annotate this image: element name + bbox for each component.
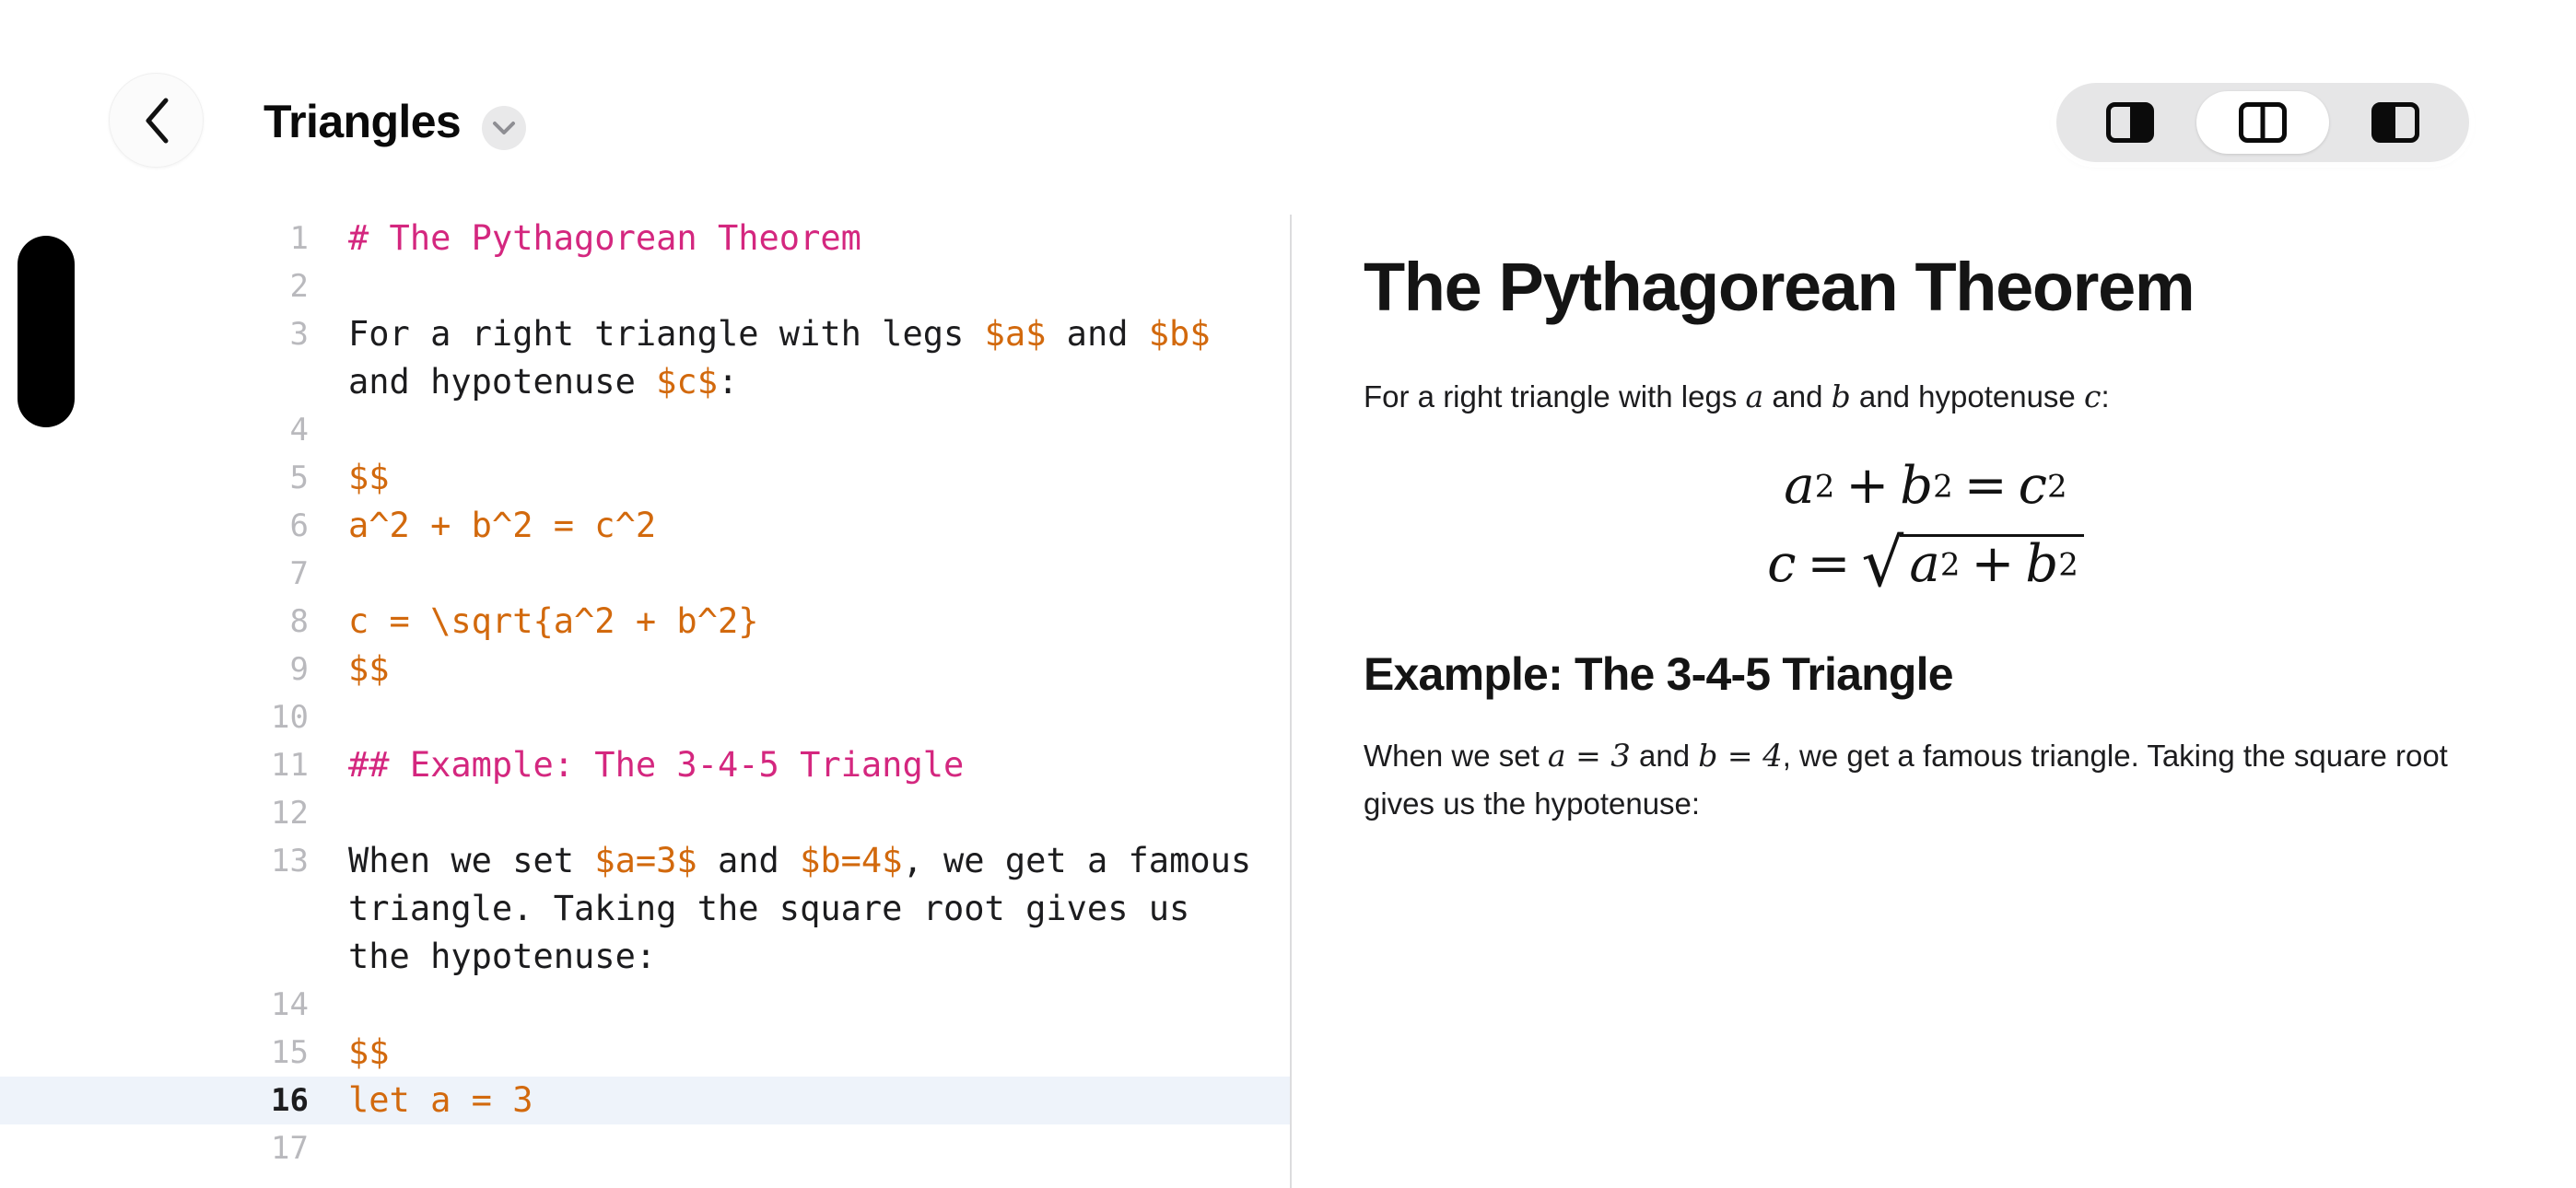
- line-number: 1: [0, 215, 309, 262]
- line-number: 7: [0, 550, 309, 598]
- title-dropdown-button[interactable]: [482, 106, 526, 150]
- md-text-token: When we set: [348, 841, 594, 880]
- line-number: 14: [0, 981, 309, 1029]
- line-source[interactable]: a^2 + b^2 = c^2: [309, 502, 1290, 550]
- line-source[interactable]: $$: [309, 646, 1290, 693]
- code-line[interactable]: 12: [0, 789, 1290, 837]
- line-source[interactable]: # The Pythagorean Theorem: [309, 215, 1290, 262]
- code-line[interactable]: 4: [0, 406, 1290, 454]
- code-line[interactable]: 1# The Pythagorean Theorem: [0, 215, 1290, 262]
- line-source[interactable]: $$: [309, 454, 1290, 502]
- preview-p2-num-1: 3: [1610, 738, 1631, 775]
- eq1-var-a: a: [1784, 456, 1814, 516]
- line-number: 2: [0, 262, 309, 310]
- md-math-token: $b=4$: [800, 841, 902, 880]
- app-root: Triangles: [0, 0, 2576, 1188]
- chevron-left-icon: [141, 97, 172, 145]
- radical-sign-icon: √: [1861, 530, 1903, 596]
- preview-p1-var-a: a: [1746, 379, 1764, 414]
- code-line[interactable]: 11## Example: The 3-4-5 Triangle: [0, 741, 1290, 789]
- preview-p1-var-b: b: [1832, 379, 1851, 414]
- markdown-preview: The Pythagorean Theorem For a right tria…: [1292, 215, 2576, 1188]
- preview-heading-1: The Pythagorean Theorem: [1364, 250, 2488, 325]
- preview-p2-text-a: When we set: [1364, 739, 1548, 773]
- code-line[interactable]: 2: [0, 262, 1290, 310]
- preview-p2-num-2: 4: [1762, 738, 1783, 775]
- md-math-token: $c$: [656, 362, 718, 402]
- chevron-down-icon: [492, 121, 516, 135]
- top-bar: Triangles: [0, 0, 2576, 215]
- panel-right-icon: [2371, 102, 2419, 143]
- line-source[interactable]: $$: [309, 1029, 1290, 1077]
- view-mode-split[interactable]: [2196, 91, 2329, 154]
- panel-split-icon: [2239, 102, 2287, 143]
- eq1-equals: =: [1953, 456, 2019, 516]
- code-line[interactable]: 10: [0, 693, 1290, 741]
- eq1-plus: +: [1834, 456, 1900, 516]
- md-math-token: c = \sqrt{a^2 + b^2}: [348, 601, 759, 641]
- line-source[interactable]: let a = 3: [309, 1077, 1290, 1124]
- preview-equation-1: a2+b2=c2: [1364, 460, 2488, 514]
- line-number: 13: [0, 837, 309, 885]
- line-number: 4: [0, 406, 309, 454]
- line-number: 3: [0, 310, 309, 358]
- line-number: 17: [0, 1124, 309, 1172]
- eq2-radicand: a2+b2: [1903, 538, 2083, 592]
- code-line[interactable]: 16let a = 3: [0, 1077, 1290, 1124]
- preview-p2-rel-1: =: [1566, 738, 1611, 774]
- preview-p1-text-b: and: [1763, 379, 1831, 413]
- line-number: 8: [0, 598, 309, 646]
- eq1-exp-3: 2: [2047, 469, 2067, 506]
- preview-paragraph-1: For a right triangle with legs a and b a…: [1364, 373, 2488, 421]
- preview-p2-var-a: a: [1548, 738, 1566, 774]
- eq2-equals: =: [1797, 534, 1862, 594]
- line-number: 11: [0, 741, 309, 789]
- md-math-token: let a = 3: [348, 1080, 533, 1120]
- md-text-token: For a right triangle with legs: [348, 314, 985, 354]
- md-math-token: $$: [348, 649, 390, 689]
- eq1-var-b: b: [1900, 456, 1933, 516]
- md-math-token: $a$: [985, 314, 1047, 354]
- code-line[interactable]: 8c = \sqrt{a^2 + b^2}: [0, 598, 1290, 646]
- code-line[interactable]: 3For a right triangle with legs $a$ and …: [0, 310, 1290, 406]
- eq2-exp-1: 2: [1940, 546, 1961, 583]
- eq1-exp-1: 2: [1815, 469, 1835, 506]
- md-heading-token: # The Pythagorean Theorem: [348, 218, 861, 258]
- eq1-var-c: c: [2019, 456, 2047, 516]
- line-number: 5: [0, 454, 309, 502]
- code-line[interactable]: 14: [0, 981, 1290, 1029]
- panes-container: 1# The Pythagorean Theorem23For a right …: [0, 215, 2576, 1188]
- md-math-token: $$: [348, 1032, 390, 1072]
- md-text-token: and: [1046, 314, 1148, 354]
- view-mode-switcher[interactable]: [2056, 83, 2469, 162]
- radical-vinculum: [1900, 534, 2083, 537]
- md-text-token: and: [697, 841, 800, 880]
- markdown-editor[interactable]: 1# The Pythagorean Theorem23For a right …: [0, 215, 1290, 1188]
- line-number: 12: [0, 789, 309, 837]
- code-line[interactable]: 6a^2 + b^2 = c^2: [0, 502, 1290, 550]
- view-mode-preview-only[interactable]: [2329, 91, 2462, 154]
- code-line[interactable]: 17: [0, 1124, 1290, 1172]
- md-math-token: $b$: [1149, 314, 1211, 354]
- preview-p2-rel-2: =: [1717, 738, 1762, 774]
- line-number: 9: [0, 646, 309, 693]
- code-line[interactable]: 5$$: [0, 454, 1290, 502]
- preview-p1-text-a: For a right triangle with legs: [1364, 379, 1746, 413]
- preview-p2-var-b: b: [1698, 738, 1717, 774]
- line-source[interactable]: c = \sqrt{a^2 + b^2}: [309, 598, 1290, 646]
- md-math-token: $$: [348, 458, 390, 497]
- code-line[interactable]: 9$$: [0, 646, 1290, 693]
- line-number: 6: [0, 502, 309, 550]
- preview-equation-2: c=√a2+b2: [1364, 538, 2488, 592]
- code-line[interactable]: 7: [0, 550, 1290, 598]
- md-math-token: a^2 + b^2 = c^2: [348, 506, 656, 545]
- eq2-var-b: b: [2025, 534, 2058, 594]
- eq2-var-c: c: [1767, 534, 1796, 594]
- view-mode-editor-only[interactable]: [2064, 91, 2196, 154]
- code-line[interactable]: 15$$: [0, 1029, 1290, 1077]
- eq2-var-a: a: [1909, 534, 1939, 594]
- preview-p2-text-b: and: [1631, 739, 1698, 773]
- preview-heading-2: Example: The 3-4-5 Triangle: [1364, 647, 2488, 701]
- preview-p1-var-c: c: [2084, 379, 2101, 414]
- back-button[interactable]: [109, 73, 204, 168]
- line-number: 16: [0, 1077, 309, 1124]
- line-source[interactable]: For a right triangle with legs $a$ and $…: [309, 310, 1290, 406]
- line-number: 10: [0, 693, 309, 741]
- page-title: Triangles: [263, 96, 461, 147]
- preview-p1-text-c: and hypotenuse: [1851, 379, 2084, 413]
- eq2-plus: +: [1960, 534, 2025, 594]
- panel-left-icon: [2106, 102, 2154, 143]
- preview-paragraph-2: When we set a = 3 and b = 4, we get a fa…: [1364, 732, 2488, 828]
- line-number: 15: [0, 1029, 309, 1077]
- line-source[interactable]: When we set $a=3$ and $b=4$, we get a fa…: [309, 837, 1290, 981]
- md-heading-token: ## Example: The 3-4-5 Triangle: [348, 745, 964, 785]
- preview-p1-text-d: :: [2101, 379, 2109, 413]
- line-source[interactable]: ## Example: The 3-4-5 Triangle: [309, 741, 1290, 789]
- md-math-token: $a=3$: [594, 841, 697, 880]
- eq2-exp-2: 2: [2058, 546, 2078, 583]
- preview-math-block: a2+b2=c2 c=√a2+b2: [1364, 460, 2488, 592]
- eq1-exp-2: 2: [1933, 469, 1953, 506]
- code-line[interactable]: 13When we set $a=3$ and $b=4$, we get a …: [0, 837, 1290, 981]
- md-text-token: :: [718, 362, 738, 402]
- eq2-sqrt: √a2+b2: [1861, 538, 2083, 592]
